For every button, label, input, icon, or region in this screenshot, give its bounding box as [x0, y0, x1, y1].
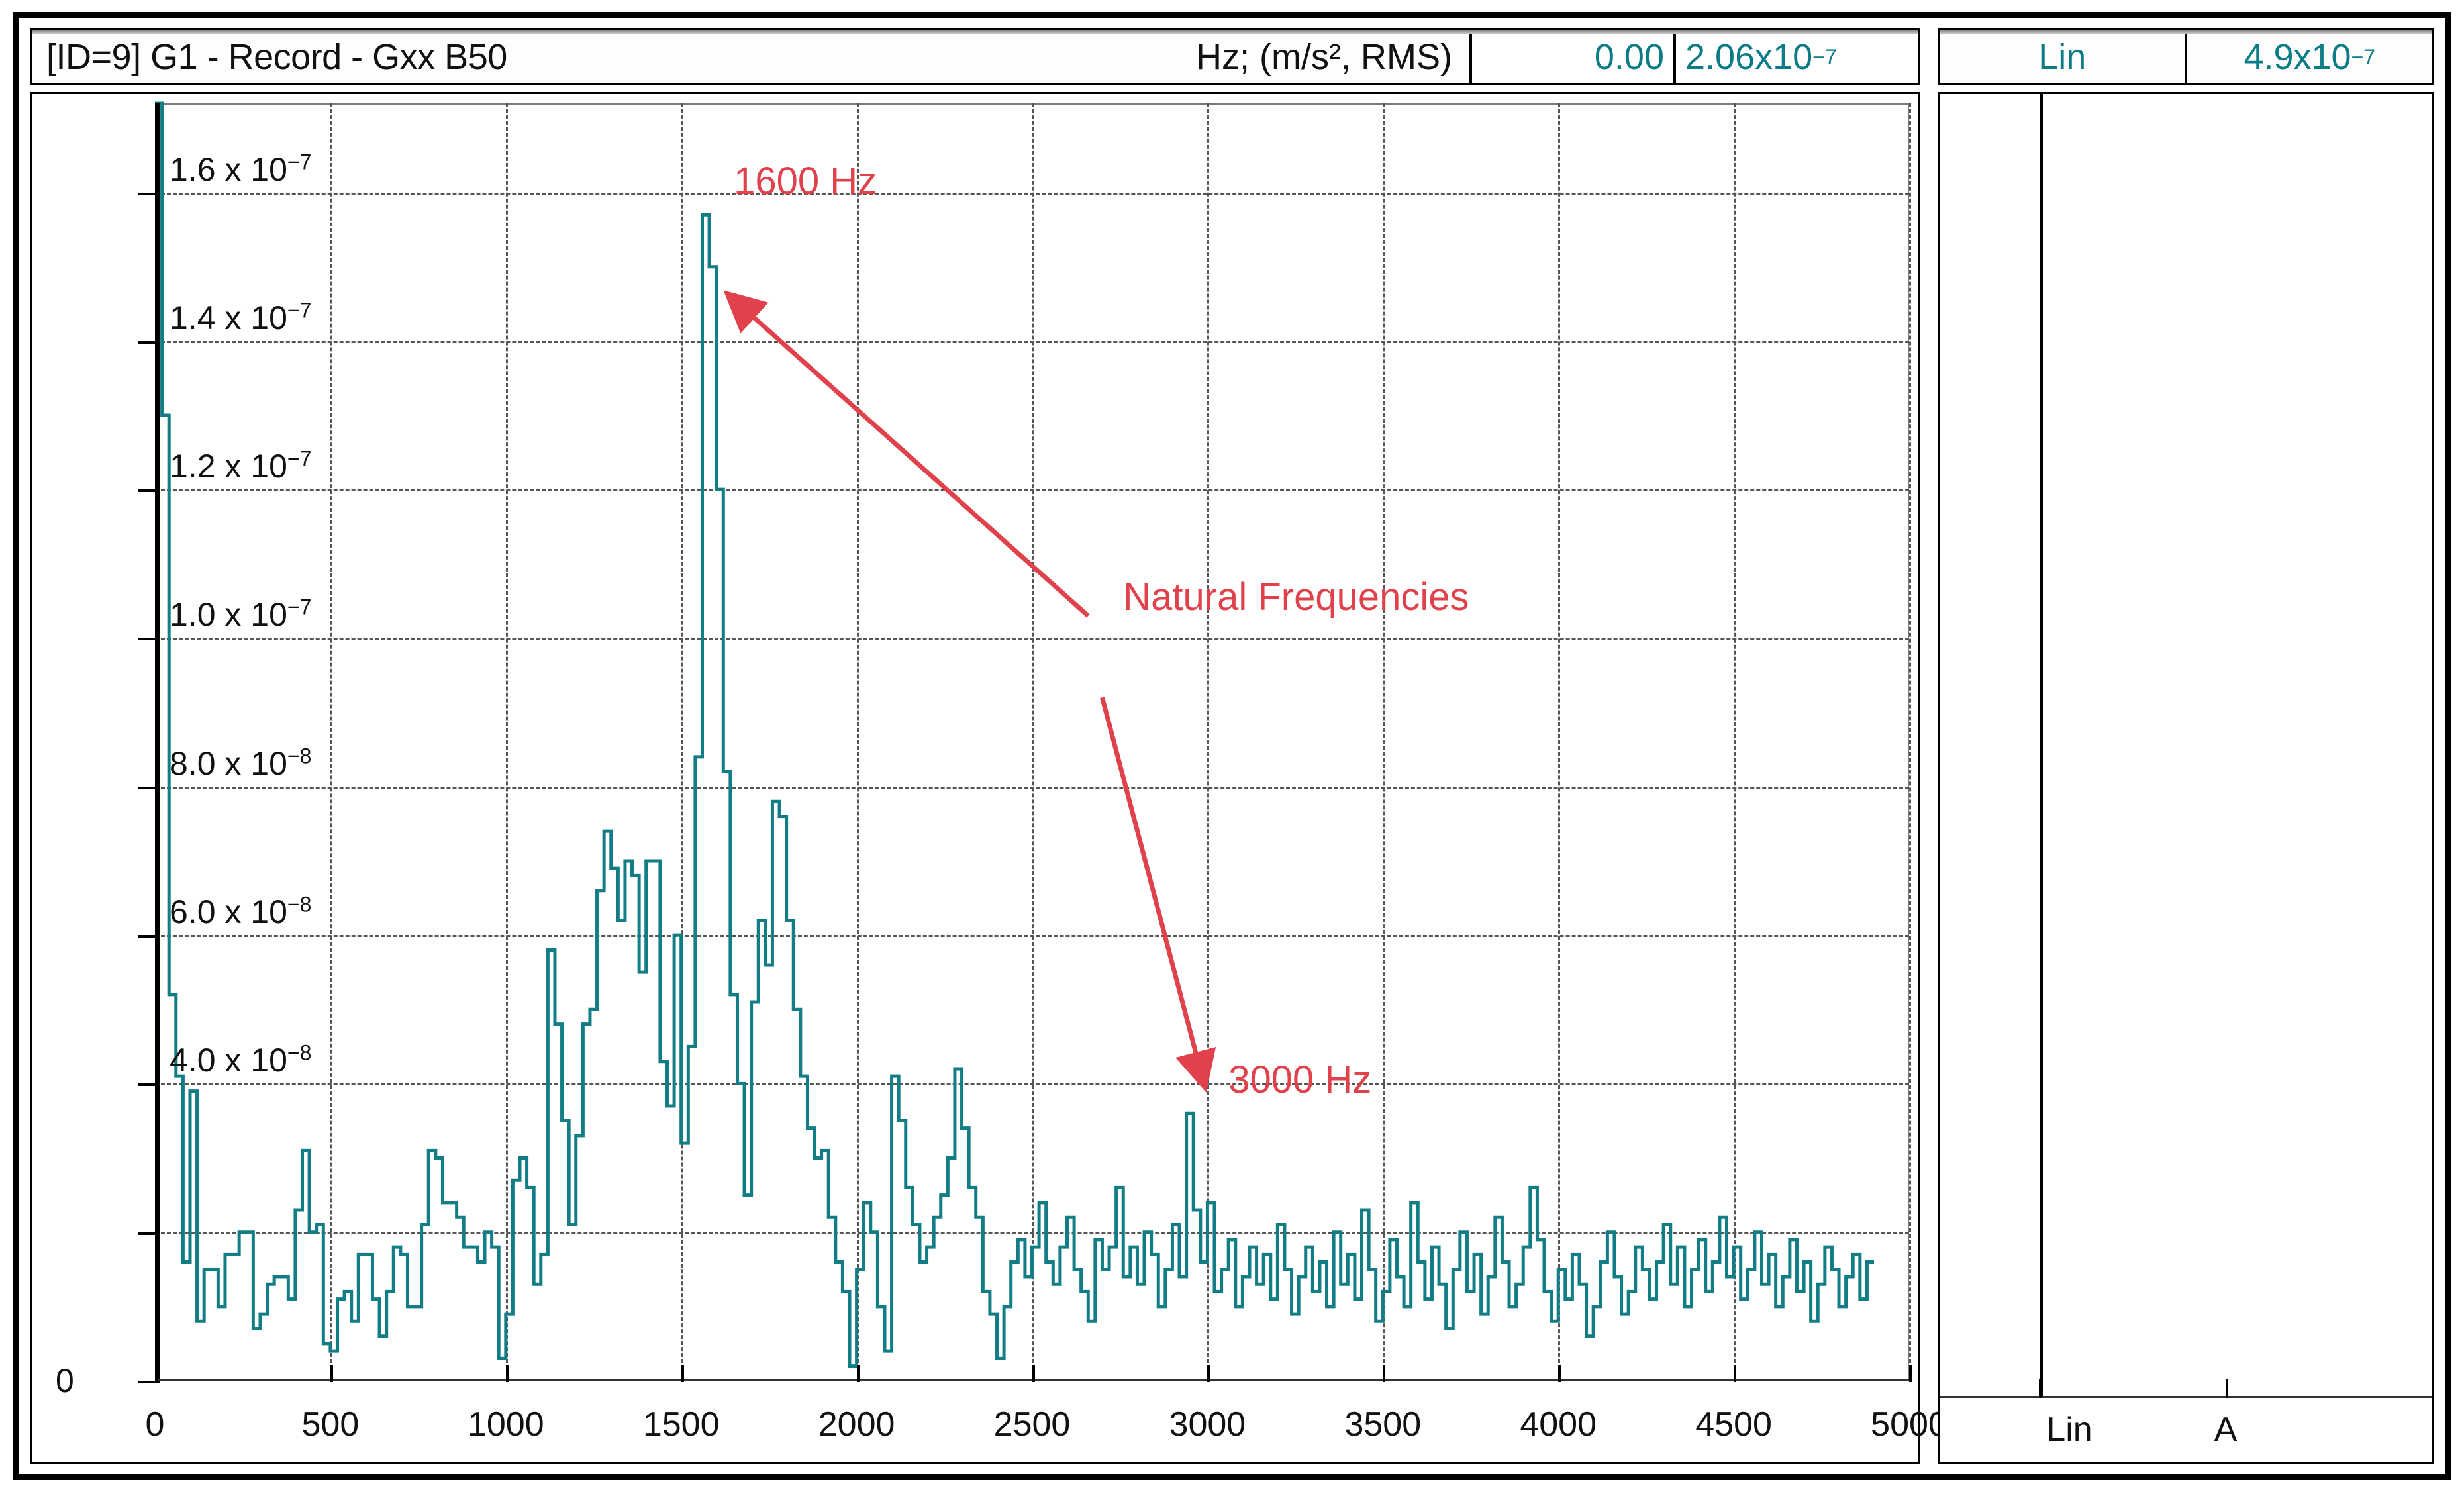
side-tick-a [2226, 1379, 2228, 1398]
x-axis-tick [857, 1365, 860, 1382]
y-tick-mantissa: 1.2 x 10 [170, 448, 287, 485]
x-axis-tick-label: 3500 [1344, 1405, 1421, 1444]
x-axis-tick-label: 0 [146, 1405, 165, 1444]
cursor-x-value[interactable]: 0.00 [1469, 30, 1673, 83]
y-axis-tick-label: 1.2 x 10−7 [170, 447, 311, 489]
y-axis-tick [138, 193, 160, 195]
y-axis-tick [138, 1083, 160, 1086]
spectrum-plot-panel[interactable]: 1.6 x 10−71.4 x 10−71.2 x 10−71.0 x 10−7… [30, 92, 1920, 1464]
scale-mode-value[interactable]: Lin [1940, 30, 2185, 83]
y-axis-tick-label: 4.0 x 10−8 [170, 1041, 311, 1083]
full-scale-value[interactable]: 4.9x10−7 [2185, 30, 2433, 83]
units-text: Hz; (m/s², RMS) [1196, 36, 1452, 77]
cursor-y-value[interactable]: 2.06x10−7 [1673, 30, 1918, 83]
x-axis-tick-label: 2500 [994, 1405, 1071, 1444]
window-outer-frame: [ID=9] G1 - Record - Gxx B50 Hz; (m/s², … [13, 12, 2451, 1480]
y-tick-mantissa: 1.6 x 10 [170, 151, 287, 188]
x-axis-tick [1734, 1365, 1736, 1382]
y-axis-tick-label: 1.0 x 10−7 [170, 595, 311, 638]
page-title: [ID=9] G1 - Record - Gxx B50 [32, 30, 1196, 83]
x-axis-tick [506, 1365, 509, 1382]
y-axis-tick [138, 638, 160, 640]
y-axis-tick-label: 1.4 x 10−7 [170, 299, 311, 341]
x-axis-tick-label: 5000 [1871, 1405, 1947, 1444]
y-tick-exponent: −8 [287, 892, 311, 916]
x-axis-tick-label: 1000 [468, 1405, 544, 1444]
x-axis-tick-label: 2000 [818, 1405, 895, 1444]
y-axis-tick-label: 8.0 x 10−8 [170, 744, 311, 787]
y-axis-tick [138, 489, 160, 492]
y-tick-exponent: −7 [287, 298, 311, 322]
x-axis-tick [1909, 1365, 1912, 1382]
x-axis-tick [1558, 1365, 1561, 1382]
x-axis-tick-label: 4500 [1695, 1405, 1772, 1444]
x-axis-tick-label: 1500 [643, 1405, 720, 1444]
gridline-vertical [1909, 103, 1911, 1381]
header-side-panel: Lin 4.9x10−7 [1938, 28, 2434, 85]
spectrum-trace [155, 103, 1909, 1381]
y-tick-mantissa: 1.0 x 10 [170, 596, 287, 633]
header-gap [1920, 28, 1938, 85]
header-main-panel: [ID=9] G1 - Record - Gxx B50 Hz; (m/s², … [30, 28, 1920, 85]
side-tick-lin [2039, 1379, 2042, 1398]
y-axis-tick-label: 1.6 x 10−7 [170, 150, 311, 193]
y-tick-exponent: −8 [287, 744, 311, 768]
y-tick-exponent: −8 [287, 1041, 311, 1065]
x-axis-tick [1383, 1365, 1385, 1382]
x-axis-tick [330, 1365, 333, 1382]
y-axis-tick-label: 6.0 x 10−8 [170, 893, 311, 935]
y-tick-exponent: −7 [287, 150, 311, 174]
y-axis-line [155, 103, 160, 1381]
side-info-panel[interactable]: Lin A [1938, 92, 2434, 1464]
window-inner-area: [ID=9] G1 - Record - Gxx B50 Hz; (m/s², … [30, 28, 2434, 1464]
y-tick-mantissa: 4.0 x 10 [170, 1042, 287, 1079]
spectrum-analyzer-window: [ID=9] G1 - Record - Gxx B50 Hz; (m/s², … [0, 0, 2464, 1492]
side-panel-axis [1940, 1396, 2432, 1398]
side-scale-label: Lin [2046, 1410, 2092, 1450]
y-axis-tick [138, 341, 160, 344]
units-label: Hz; (m/s², RMS) [1196, 30, 1469, 83]
content-row: 1.6 x 10−71.4 x 10−71.2 x 10−71.0 x 10−7… [30, 92, 2434, 1464]
y-axis-tick [138, 1232, 160, 1235]
x-axis-tick [1032, 1365, 1035, 1382]
y-tick-exponent: −7 [287, 595, 311, 619]
y-tick-mantissa: 6.0 x 10 [170, 893, 287, 930]
x-axis-tick [155, 1365, 158, 1382]
x-axis-tick-label: 3000 [1169, 1405, 1246, 1444]
y-axis-tick [138, 935, 160, 938]
x-axis-tick-label: 500 [302, 1405, 360, 1444]
panel-gap [1920, 92, 1938, 1464]
trace-path [155, 103, 1874, 1366]
x-axis-tick-label: 4000 [1520, 1405, 1597, 1444]
cursor-y-mantissa: 2.06x10 [1685, 36, 1812, 77]
header-bar: [ID=9] G1 - Record - Gxx B50 Hz; (m/s², … [30, 28, 2434, 85]
y-tick-exponent: −7 [287, 447, 311, 471]
y-tick-mantissa: 0 [56, 1362, 74, 1399]
side-panel-divider [2040, 94, 2043, 1398]
y-axis-tick [138, 787, 160, 789]
side-channel-label: A [2214, 1410, 2238, 1450]
x-axis-tick [1207, 1365, 1210, 1382]
full-scale-mantissa: 4.9x10 [2243, 36, 2351, 77]
y-tick-mantissa: 1.4 x 10 [170, 299, 287, 336]
y-tick-mantissa: 8.0 x 10 [170, 745, 287, 782]
y-axis-tick-label: 0 [56, 1362, 74, 1400]
plot-area[interactable]: 1.6 x 10−71.4 x 10−71.2 x 10−71.0 x 10−7… [155, 103, 1909, 1381]
x-axis-tick [681, 1365, 684, 1382]
